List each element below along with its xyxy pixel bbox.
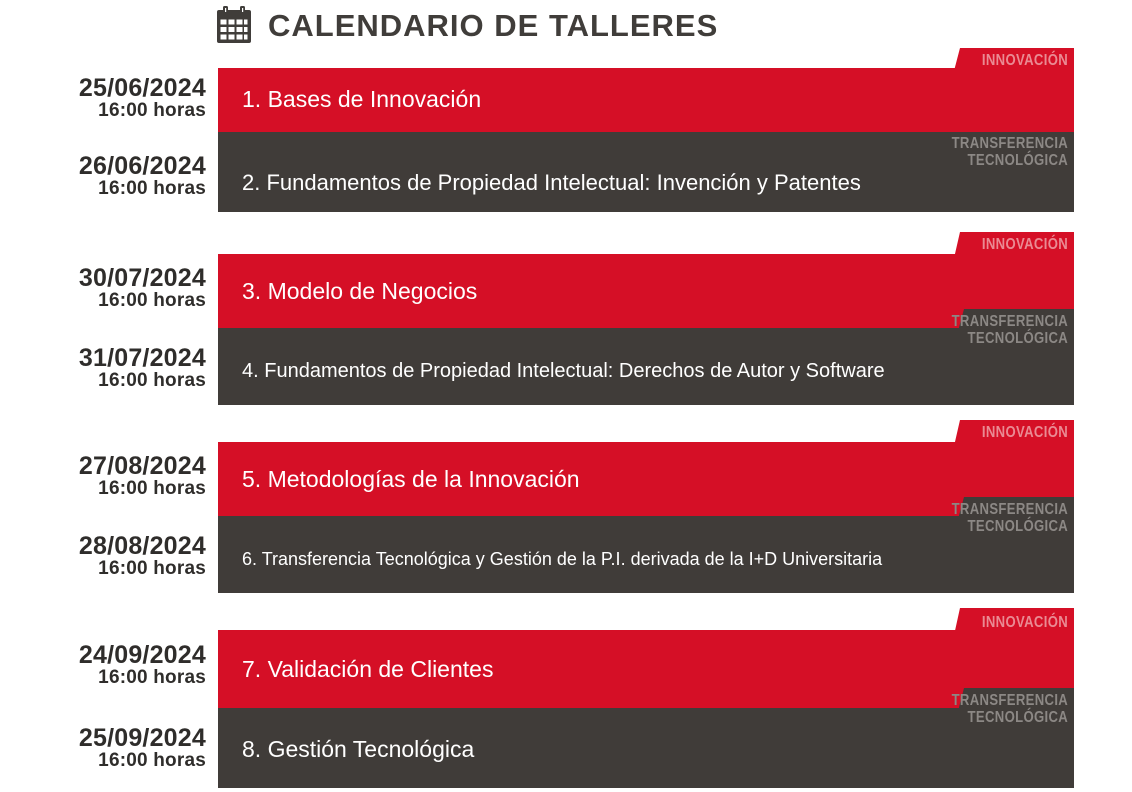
date-cell: 28/08/2024 16:00 horas: [0, 533, 206, 579]
workshop-group: 27/08/2024 16:00 horas 28/08/2024 16:00 …: [0, 420, 1132, 596]
page-title: CALENDARIO DE TALLERES: [268, 10, 718, 41]
workshop-row-dark[interactable]: 6. Transferencia Tecnológica y Gestión d…: [218, 516, 1074, 593]
workshop-row-dark[interactable]: 8. Gestión Tecnológica: [218, 708, 1074, 788]
date-cell: 26/06/2024 16:00 horas: [0, 153, 206, 199]
badge-line-1: TRANSFERENCIA: [951, 501, 1068, 518]
date-cell: 31/07/2024 16:00 horas: [0, 345, 206, 391]
page-header: CALENDARIO DE TALLERES: [0, 0, 1132, 50]
bars-column: 5. Metodologías de la Innovación INNOVAC…: [218, 420, 1074, 596]
date-time: 16:00 horas: [0, 559, 206, 579]
date-day: 25/06/2024: [0, 75, 206, 101]
workshop-title: 8. Gestión Tecnológica: [242, 738, 474, 761]
badge-innovacion: INNOVACIÓN: [982, 425, 1068, 442]
badge-line-2: TECNOLÓGICA: [967, 330, 1068, 347]
workshop-row-red[interactable]: 1. Bases de Innovación: [218, 68, 1074, 132]
date-day: 31/07/2024: [0, 345, 206, 371]
badge-transferencia: TRANSFERENCIA TECNOLÓGICA: [951, 314, 1068, 348]
workshop-row-red[interactable]: 3. Modelo de Negocios: [218, 254, 1074, 328]
workshop-group: 24/09/2024 16:00 horas 25/09/2024 16:00 …: [0, 608, 1132, 792]
badge-innovacion: INNOVACIÓN: [982, 615, 1068, 632]
workshop-group: 30/07/2024 16:00 horas 31/07/2024 16:00 …: [0, 232, 1132, 408]
workshop-title: 7. Validación de Clientes: [242, 658, 493, 681]
date-column: 24/09/2024 16:00 horas 25/09/2024 16:00 …: [0, 608, 206, 792]
date-day: 26/06/2024: [0, 153, 206, 179]
date-column: 27/08/2024 16:00 horas 28/08/2024 16:00 …: [0, 420, 206, 596]
workshop-title: 1. Bases de Innovación: [242, 88, 481, 111]
date-time: 16:00 horas: [0, 291, 206, 311]
calendar-icon: [216, 6, 252, 44]
date-cell: 30/07/2024 16:00 horas: [0, 265, 206, 311]
date-time: 16:00 horas: [0, 371, 206, 391]
date-day: 27/08/2024: [0, 453, 206, 479]
workshop-row-dark[interactable]: 4. Fundamentos de Propiedad Intelectual:…: [218, 328, 1074, 405]
date-time: 16:00 horas: [0, 668, 206, 688]
date-day: 30/07/2024: [0, 265, 206, 291]
bars-column: 3. Modelo de Negocios INNOVACIÓN 4. Fund…: [218, 232, 1074, 408]
workshop-row-dark[interactable]: 2. Fundamentos de Propiedad Intelectual:…: [218, 132, 1074, 212]
badge-innovacion: INNOVACIÓN: [982, 237, 1068, 254]
badge-transferencia: TRANSFERENCIA TECNOLÓGICA: [951, 136, 1068, 170]
workshop-row-red[interactable]: 5. Metodologías de la Innovación: [218, 442, 1074, 516]
badge-line-1: TRANSFERENCIA: [951, 692, 1068, 709]
date-cell: 24/09/2024 16:00 horas: [0, 642, 206, 688]
date-day: 25/09/2024: [0, 725, 206, 751]
badge-line-2: TECNOLÓGICA: [967, 709, 1068, 726]
badge-innovacion: INNOVACIÓN: [982, 53, 1068, 70]
badge-transferencia: TRANSFERENCIA TECNOLÓGICA: [951, 502, 1068, 536]
workshop-title: 5. Metodologías de la Innovación: [242, 468, 580, 491]
date-day: 24/09/2024: [0, 642, 206, 668]
bars-column: 1. Bases de Innovación INNOVACIÓN 2. Fun…: [218, 44, 1074, 212]
date-time: 16:00 horas: [0, 751, 206, 771]
workshop-group: 25/06/2024 16:00 horas 26/06/2024 16:00 …: [0, 44, 1132, 212]
badge-line-2: TECNOLÓGICA: [967, 518, 1068, 535]
workshop-title: 2. Fundamentos de Propiedad Intelectual:…: [242, 172, 861, 194]
badge-line-1: TRANSFERENCIA: [951, 135, 1068, 152]
workshop-title: 3. Modelo de Negocios: [242, 280, 477, 303]
badge-line-2: TECNOLÓGICA: [967, 152, 1068, 169]
workshop-title: 6. Transferencia Tecnológica y Gestión d…: [242, 550, 882, 568]
date-time: 16:00 horas: [0, 179, 206, 199]
bars-column: 7. Validación de Clientes INNOVACIÓN 8. …: [218, 608, 1074, 792]
date-column: 25/06/2024 16:00 horas 26/06/2024 16:00 …: [0, 44, 206, 212]
date-day: 28/08/2024: [0, 533, 206, 559]
date-column: 30/07/2024 16:00 horas 31/07/2024 16:00 …: [0, 232, 206, 408]
workshop-title: 4. Fundamentos de Propiedad Intelectual:…: [242, 361, 885, 381]
date-cell: 25/06/2024 16:00 horas: [0, 75, 206, 121]
badge-transferencia: TRANSFERENCIA TECNOLÓGICA: [951, 693, 1068, 727]
date-cell: 27/08/2024 16:00 horas: [0, 453, 206, 499]
workshop-row-red[interactable]: 7. Validación de Clientes: [218, 630, 1074, 708]
date-time: 16:00 horas: [0, 479, 206, 499]
badge-line-1: TRANSFERENCIA: [951, 313, 1068, 330]
date-cell: 25/09/2024 16:00 horas: [0, 725, 206, 771]
date-time: 16:00 horas: [0, 101, 206, 121]
